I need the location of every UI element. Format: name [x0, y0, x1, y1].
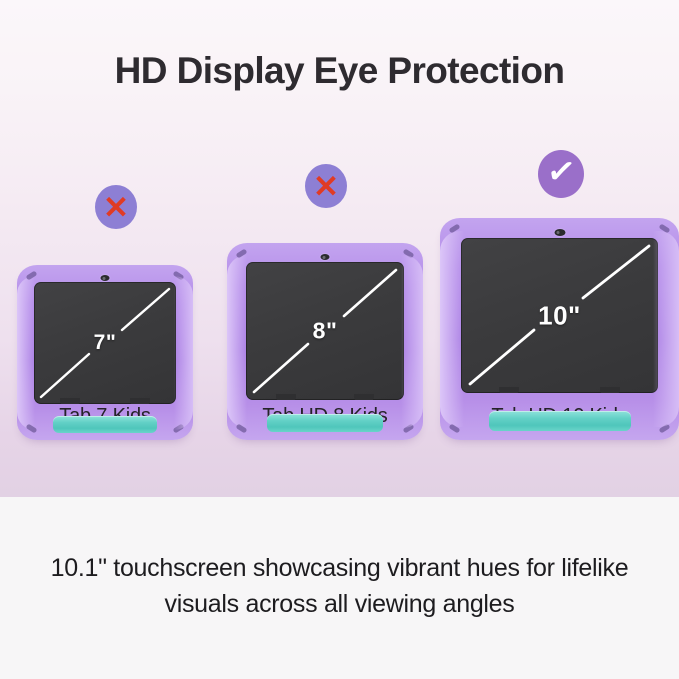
grip-nub-icon — [26, 270, 38, 280]
page-title: HD Display Eye Protection — [0, 50, 679, 92]
tablet-screen: 10" — [461, 238, 658, 393]
marketing-image: HD Display Eye Protection ✕ — [0, 0, 679, 679]
tablet-screen: 7" — [34, 282, 176, 404]
check-badge-icon: ✓ — [538, 150, 584, 198]
kickstand-handle — [489, 411, 631, 431]
grip-nub-icon — [236, 248, 248, 258]
grip-nub-icon — [403, 248, 415, 258]
screen-size-label: 8" — [313, 318, 338, 345]
screen-size-label: 7" — [94, 331, 117, 355]
screen-size-label: 10" — [538, 300, 581, 331]
cross-badge-icon: ✕ — [95, 185, 137, 229]
cross-badge-glyph: ✕ — [313, 171, 339, 202]
cross-badge-glyph: ✕ — [103, 192, 129, 223]
product-column-tab-hd-8-kids: ✕ 8" — [210, 150, 440, 440]
tablet-screen: 8" — [246, 262, 404, 400]
bezel-tab — [600, 387, 620, 393]
caption-text: 10.1" touchscreen showcasing vibrant hue… — [40, 551, 640, 622]
caption-panel: 10.1" touchscreen showcasing vibrant hue… — [0, 497, 679, 679]
grip-nub-icon — [659, 223, 671, 233]
bezel-tab — [499, 387, 519, 393]
grip-nub-icon — [173, 270, 185, 280]
kickstand-handle — [267, 414, 383, 432]
front-camera-icon — [321, 254, 330, 260]
product-comparison-row: ✕ 7" — [0, 150, 679, 440]
cross-badge-icon: ✕ — [305, 164, 347, 208]
front-camera-icon — [554, 229, 565, 236]
product-column-tab-7-kids: ✕ 7" — [0, 150, 210, 440]
product-column-tab-hd-10-kids: ✓ 10" — [440, 150, 679, 440]
check-badge-glyph: ✓ — [545, 153, 578, 191]
kickstand-handle — [53, 416, 157, 433]
hero-panel: HD Display Eye Protection ✕ — [0, 0, 679, 497]
front-camera-icon — [101, 275, 110, 281]
grip-nub-icon — [449, 223, 461, 233]
